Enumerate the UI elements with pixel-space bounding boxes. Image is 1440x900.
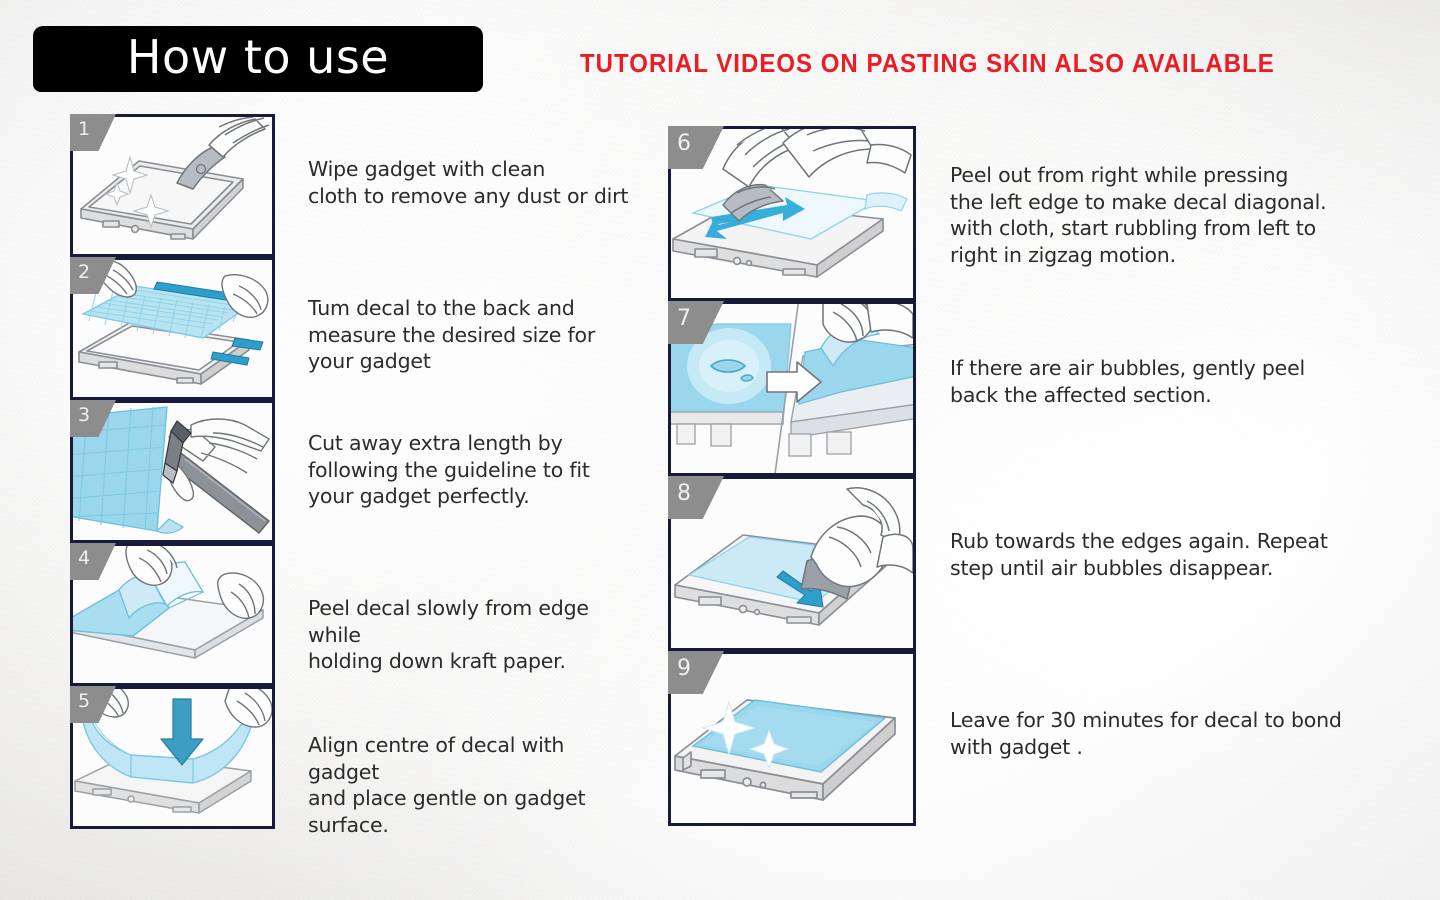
title-banner: How to use xyxy=(33,26,483,92)
step-text-3: Cut away extra length by following the g… xyxy=(308,400,590,510)
step-text-5: Align centre of decal with gadget and pl… xyxy=(308,686,630,839)
step-text-4: Peel decal slowly from edge while holdin… xyxy=(308,543,630,675)
step-item-5: Align centre of decal with gadget and pl… xyxy=(70,686,630,839)
step-item-7: If there are air bubbles, gently peel ba… xyxy=(668,301,1368,476)
step-item-1: Wipe gadget with clean cloth to remove a… xyxy=(70,114,630,257)
tutorial-videos-note: TUTORIAL VIDEOS ON PASTING SKIN ALSO AVA… xyxy=(580,50,1351,79)
step-item-3: Cut away extra length by following the g… xyxy=(70,400,630,543)
step-text-6: Peel out from right while pressing the l… xyxy=(950,126,1326,269)
step-item-8: Rub towards the edges again. Repeat step… xyxy=(668,476,1368,651)
step-text-9: Leave for 30 minutes for decal to bond w… xyxy=(950,651,1342,760)
step-item-4: Peel decal slowly from edge while holdin… xyxy=(70,543,630,686)
step-text-8: Rub towards the edges again. Repeat step… xyxy=(950,476,1328,581)
step-item-6: Peel out from right while pressing the l… xyxy=(668,126,1368,301)
step-text-1: Wipe gadget with clean cloth to remove a… xyxy=(308,114,628,209)
step-text-7: If there are air bubbles, gently peel ba… xyxy=(950,301,1305,408)
step-text-2: Tum decal to the back and measure the de… xyxy=(308,257,595,375)
steps-column-left: Wipe gadget with clean cloth to remove a… xyxy=(70,114,630,839)
step-item-9: Leave for 30 minutes for decal to bond w… xyxy=(668,651,1368,826)
step-item-2: Tum decal to the back and measure the de… xyxy=(70,257,630,400)
steps-column-right: Peel out from right while pressing the l… xyxy=(668,126,1368,826)
page-title: How to use xyxy=(127,34,389,84)
